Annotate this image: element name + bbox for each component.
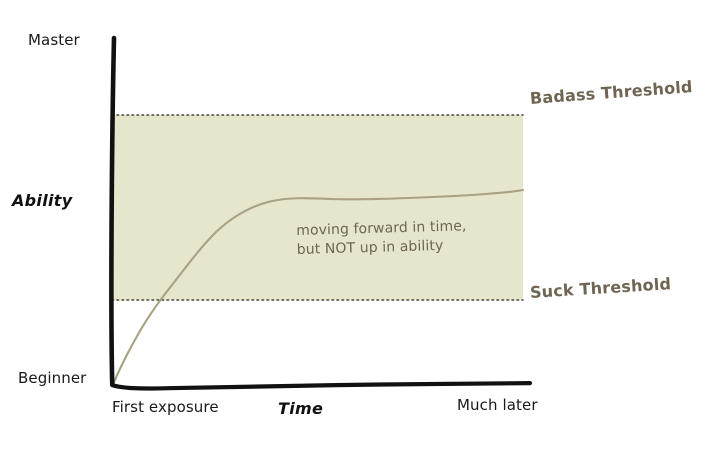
y-axis-title: Ability — [12, 191, 72, 210]
plateau-annotation: moving forward in time, but NOT up in ab… — [296, 217, 467, 260]
x-axis-title: Time — [278, 399, 323, 418]
x-axis-line — [112, 383, 530, 388]
x-axis-right-tick-label: Much later — [457, 396, 538, 414]
plateau-band — [112, 115, 523, 300]
x-axis-left-tick-label: First exposure — [112, 398, 219, 416]
y-axis-line — [111, 38, 114, 383]
y-axis-bottom-tick-label: Beginner — [18, 369, 86, 387]
ability-vs-time-chart: Master Beginner First exposure Much late… — [0, 0, 712, 462]
y-axis-top-tick-label: Master — [28, 31, 80, 49]
